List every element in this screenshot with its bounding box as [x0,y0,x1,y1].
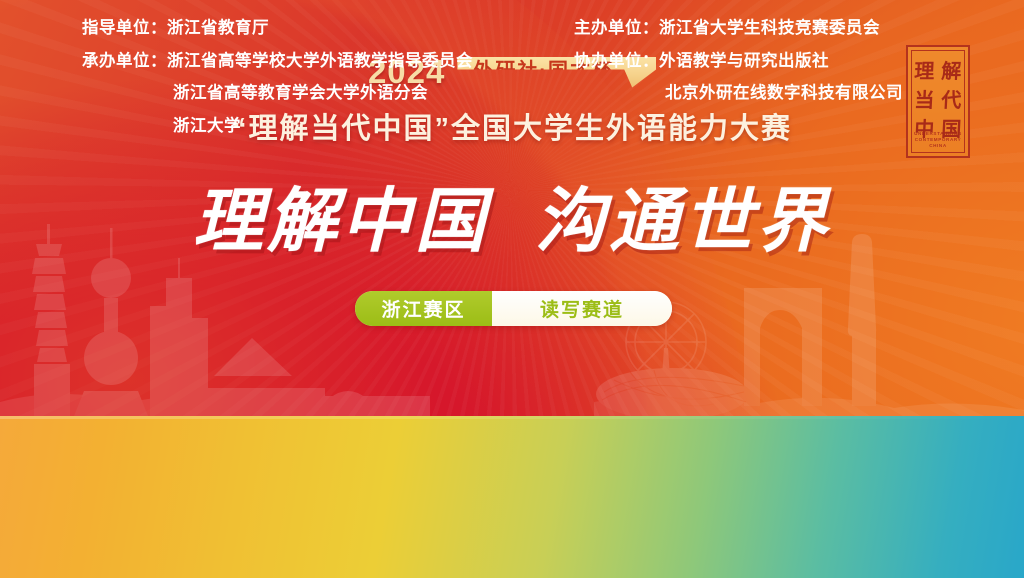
credits-left-column: 指导单位： 浙江省教育厅 承办单位： 浙江省高等学校大学外语教学指导委员会 浙江… [82,20,473,150]
credit-label: 指导单位： [82,20,167,37]
credit-row: 主办单位： 浙江省大学生科技竞赛委员会 [574,20,903,37]
slogan-part-left: 理解中国 [193,182,489,260]
credit-value: 浙江省高等教育学会大学外语分会 [82,85,428,102]
slogan-part-right: 沟通世界 [535,182,831,260]
region-track-badge: 浙江赛区 读写赛道 [355,291,672,326]
credit-row: 浙江大学 [82,118,473,135]
credit-row: 协办单位： 外语教学与研究出版社 [574,53,903,70]
credit-label: 协办单位： [574,53,659,70]
credit-row: 承办单位： 浙江省高等学校大学外语教学指导委员会 [82,53,473,70]
main-slogan: 理解中国沟通世界 [0,165,1024,266]
event-poster: 2024 外研社·国才杯 “理解当代中国”全国大学生外语能力大赛 理解中国沟通世… [0,0,1024,578]
credit-value: 浙江省高等学校大学外语教学指导委员会 [167,53,473,70]
credit-value: 浙江省大学生科技竞赛委员会 [659,20,880,37]
credit-row: 浙江省高等教育学会大学外语分会 [82,85,473,102]
credit-value: 外语教学与研究出版社 [659,53,829,70]
badge-region: 浙江赛区 [355,291,492,326]
credit-row: 指导单位： 浙江省教育厅 [82,20,473,37]
credit-value: 北京外研在线数字科技有限公司 [574,85,903,102]
credits-band [0,416,1024,578]
credit-value: 浙江省教育厅 [167,20,269,37]
credit-value: 浙江大学 [82,118,241,135]
credits-right-column: 主办单位： 浙江省大学生科技竞赛委员会 协办单位： 外语教学与研究出版社 北京外… [574,20,903,118]
credits-columns: 指导单位： 浙江省教育厅 承办单位： 浙江省高等学校大学外语教学指导委员会 浙江… [0,0,1024,162]
credit-row: 北京外研在线数字科技有限公司 [574,85,903,102]
credit-label: 主办单位： [574,20,659,37]
badge-track: 读写赛道 [492,291,672,326]
credit-label: 承办单位： [82,53,167,70]
